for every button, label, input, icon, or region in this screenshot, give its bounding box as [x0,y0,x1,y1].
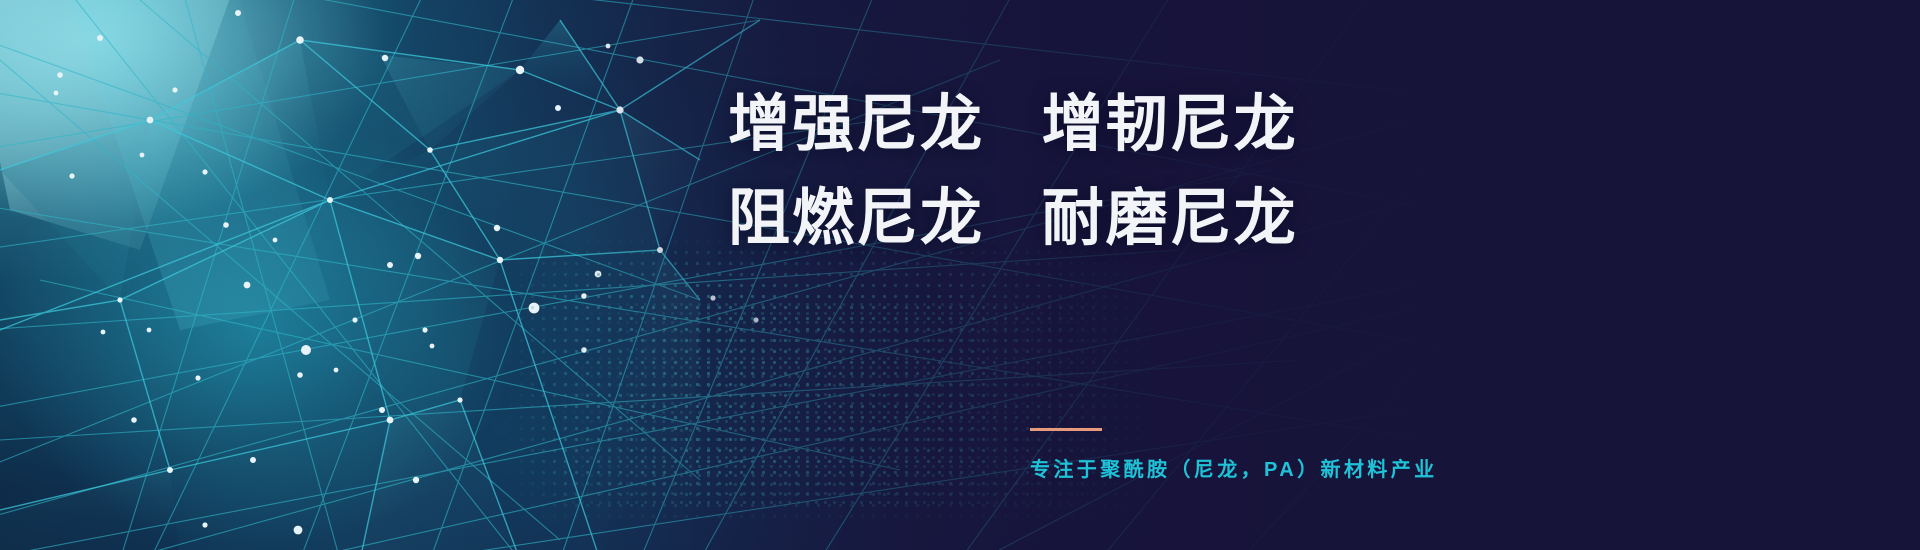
headline-line-1: 增强尼龙 增韧尼龙 [728,78,1428,172]
subtitle-text: 专注于聚酰胺（尼龙，PA）新材料产业 [1030,453,1438,482]
subtitle-block: 专注于聚酰胺（尼龙，PA）新材料产业 [1030,428,1438,482]
accent-divider [1030,428,1102,431]
headline-line-2: 阻燃尼龙 耐磨尼龙 [728,172,1428,266]
hero-copy: 增强尼龙 增韧尼龙 阻燃尼龙 耐磨尼龙 [728,78,1428,266]
hero-banner: 增强尼龙 增韧尼龙 阻燃尼龙 耐磨尼龙 专注于聚酰胺（尼龙，PA）新材料产业 [0,0,1920,550]
